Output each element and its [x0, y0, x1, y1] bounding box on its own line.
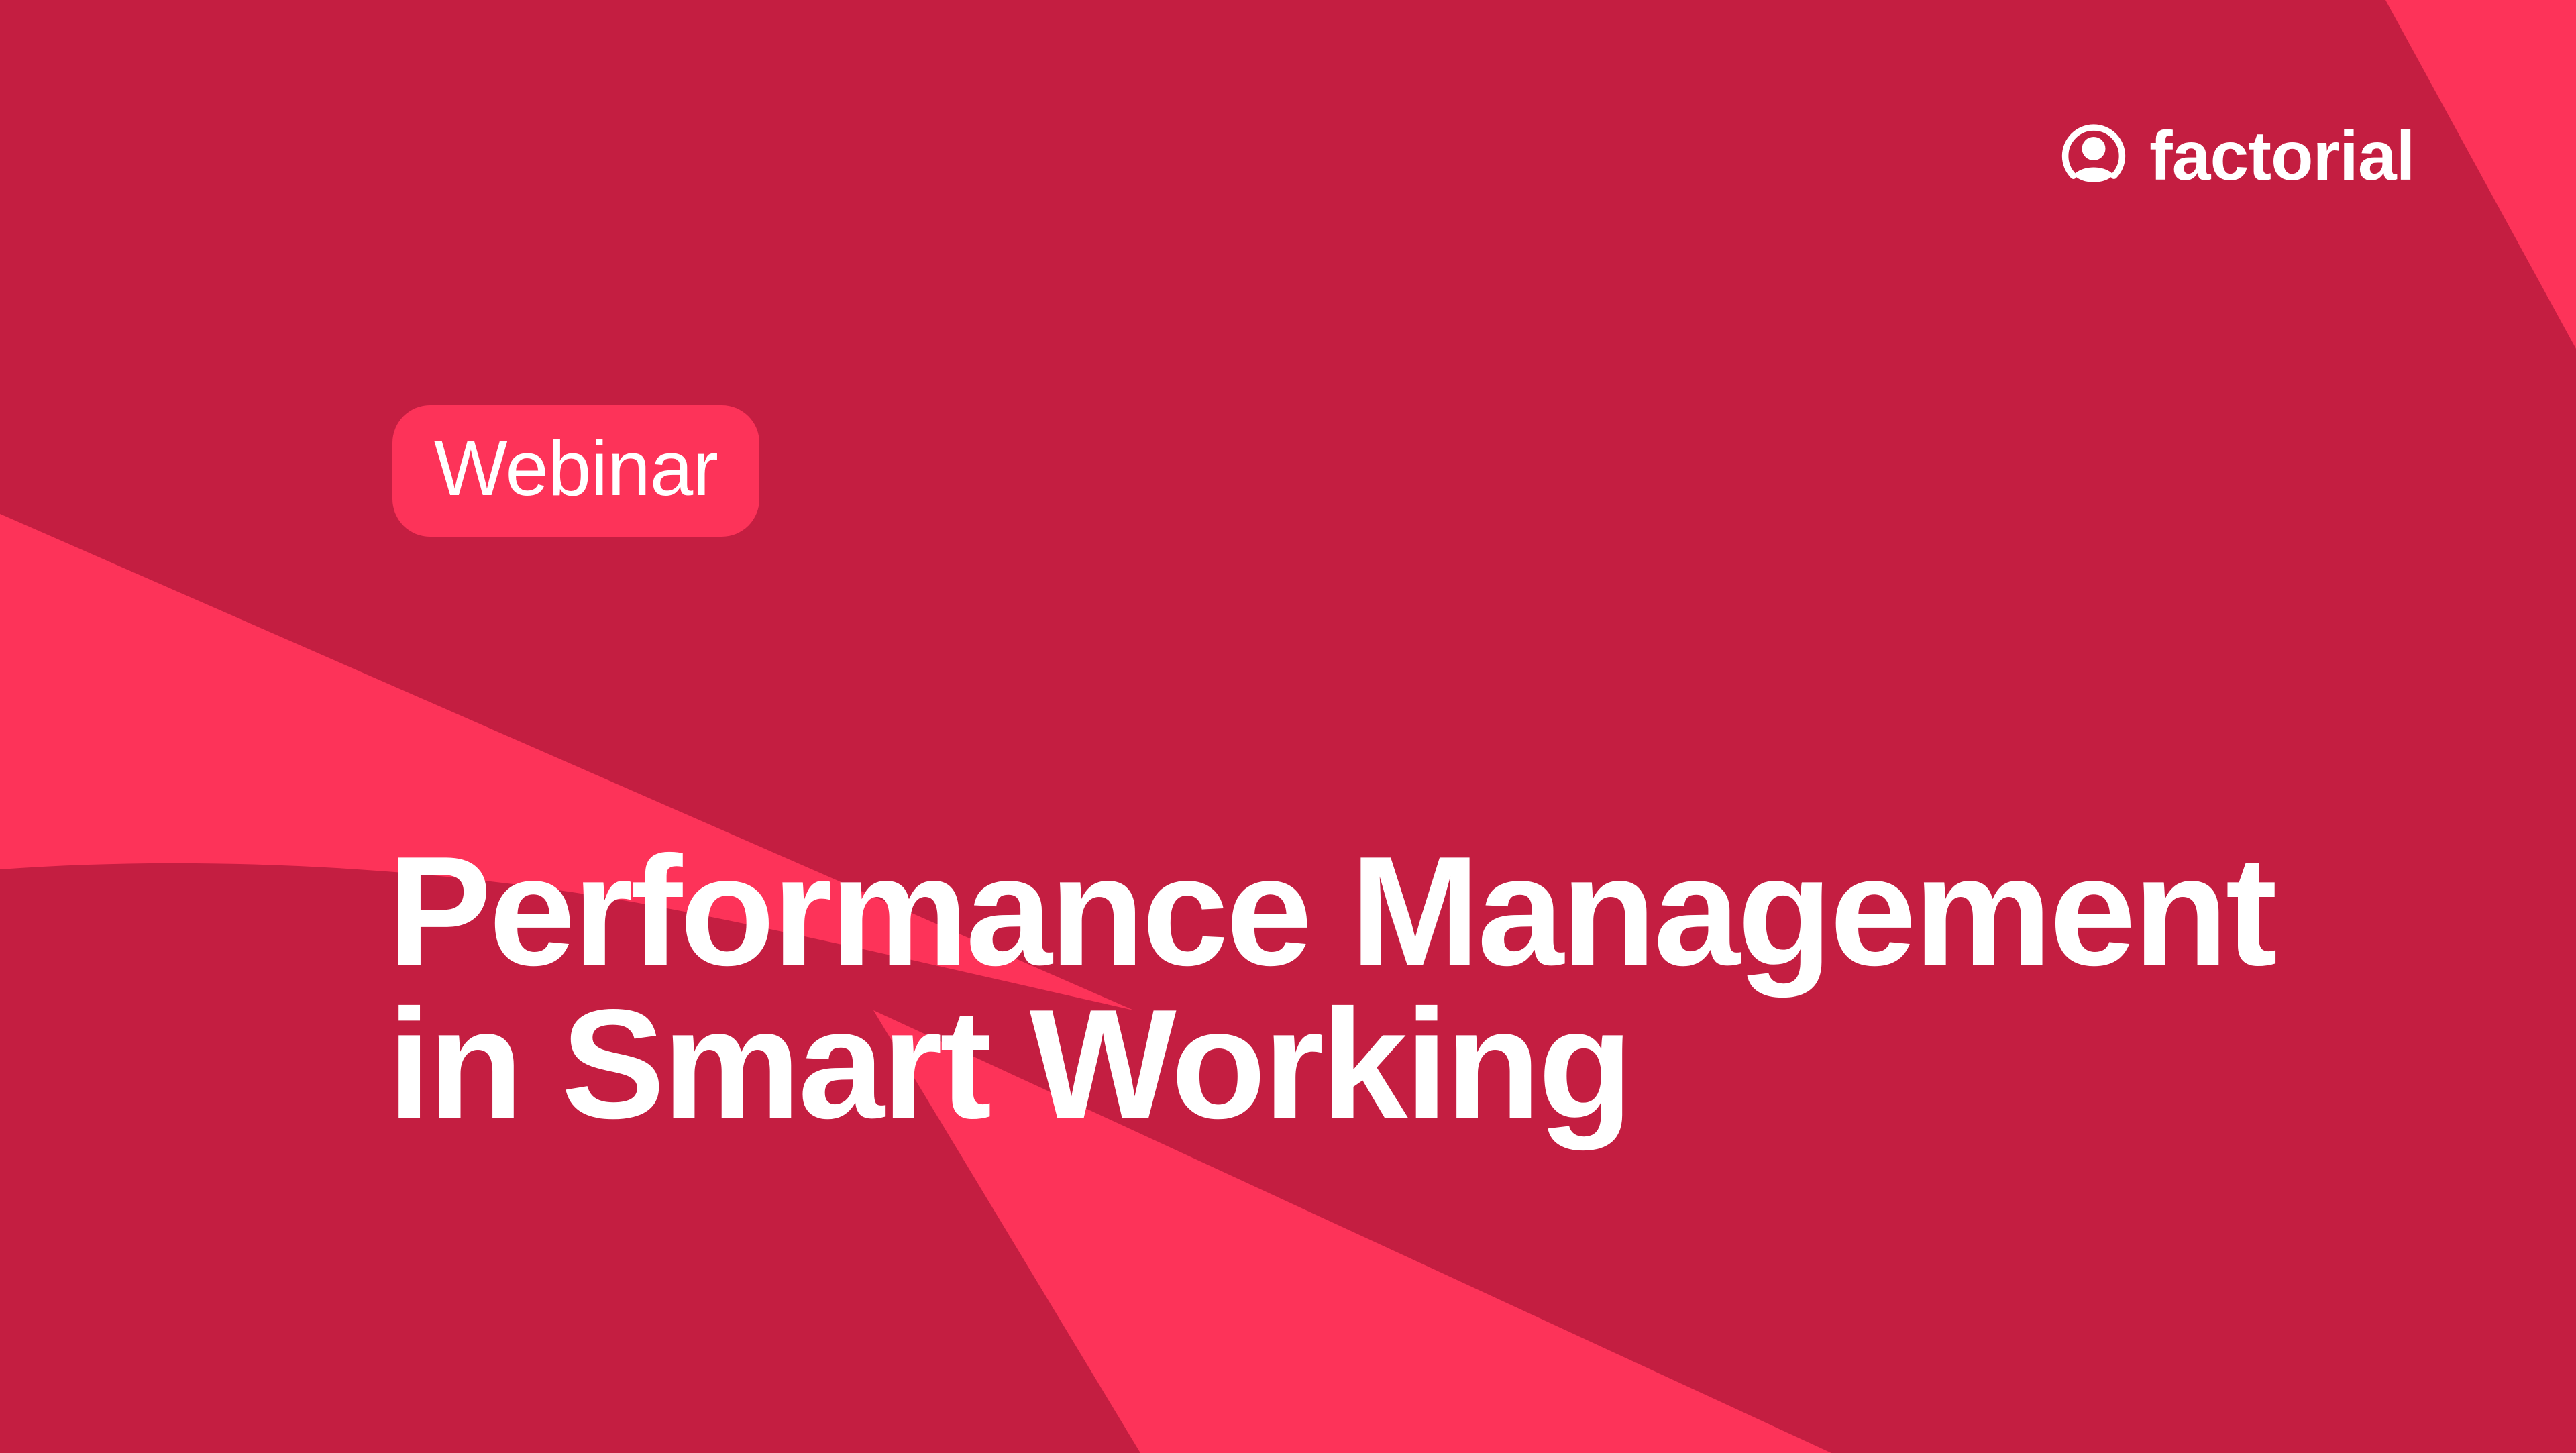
webinar-badge-label: Webinar: [434, 429, 718, 507]
webinar-cover-slide: factorial Webinar Performance Management…: [0, 0, 2576, 1453]
brand-wordmark: factorial: [2149, 121, 2415, 191]
user-avatar-circle-icon: [2058, 119, 2129, 191]
page-title: Performance Management in Smart Working: [388, 835, 2387, 1141]
page-title-line-1: Performance Management: [388, 835, 2387, 988]
webinar-badge: Webinar: [392, 405, 759, 537]
page-title-line-2: in Smart Working: [388, 988, 2387, 1141]
brand-logo[interactable]: factorial: [2058, 119, 2415, 191]
